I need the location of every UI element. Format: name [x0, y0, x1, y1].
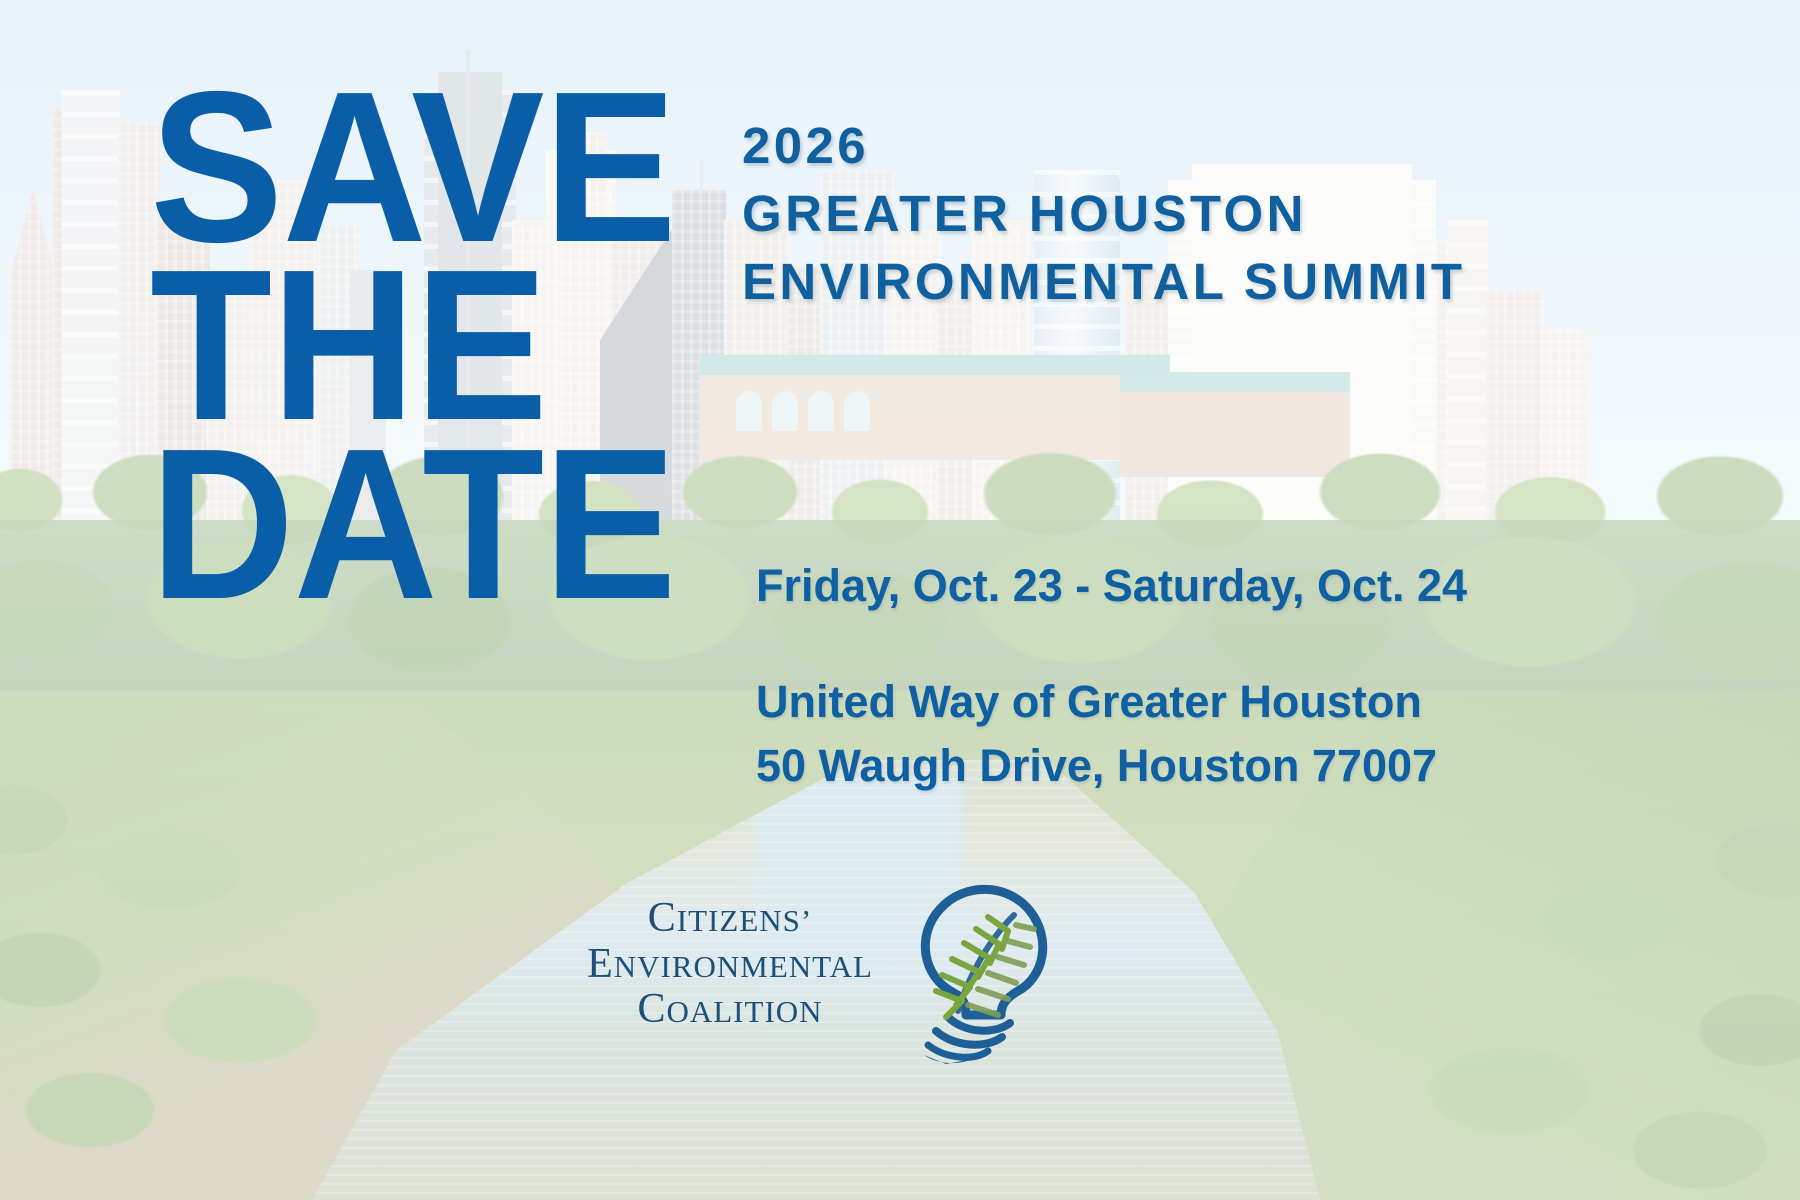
event-details-block: Friday, Oct. 23 - Saturday, Oct. 24 Unit…: [756, 563, 1776, 798]
event-title-block: 2026 GREATER HOUSTON ENVIRONMENTAL SUMMI…: [742, 112, 1752, 315]
lightbulb-leaf-icon: [902, 865, 1072, 1065]
save-the-date-poster: SAVE THE DATE 2026 GREATER HOUSTON ENVIR…: [0, 0, 1800, 1200]
headline-line-3: DATE: [150, 435, 676, 613]
event-dates: Friday, Oct. 23 - Saturday, Oct. 24: [756, 563, 1776, 608]
event-venue: United Way of Greater Houston: [756, 670, 1776, 734]
spacer: [756, 608, 1776, 670]
event-year: 2026: [742, 112, 1752, 180]
event-title-line-1: GREATER HOUSTON: [742, 180, 1752, 248]
save-the-date-headline: SAVE THE DATE: [150, 78, 716, 613]
logo-word-citizens: CITIZENS’: [560, 896, 900, 941]
event-address: 50 Waugh Drive, Houston 77007: [756, 734, 1776, 798]
logo-wordmark: CITIZENS’ ENVIRONMENTAL COALITION: [560, 896, 900, 1032]
logo-word-environmental: ENVIRONMENTAL: [560, 942, 900, 987]
logo-word-coalition: COALITION: [560, 987, 900, 1032]
citizens-environmental-coalition-logo: CITIZENS’ ENVIRONMENTAL COALITION: [560, 862, 1080, 1067]
event-title-line-2: ENVIRONMENTAL SUMMIT: [742, 248, 1752, 316]
